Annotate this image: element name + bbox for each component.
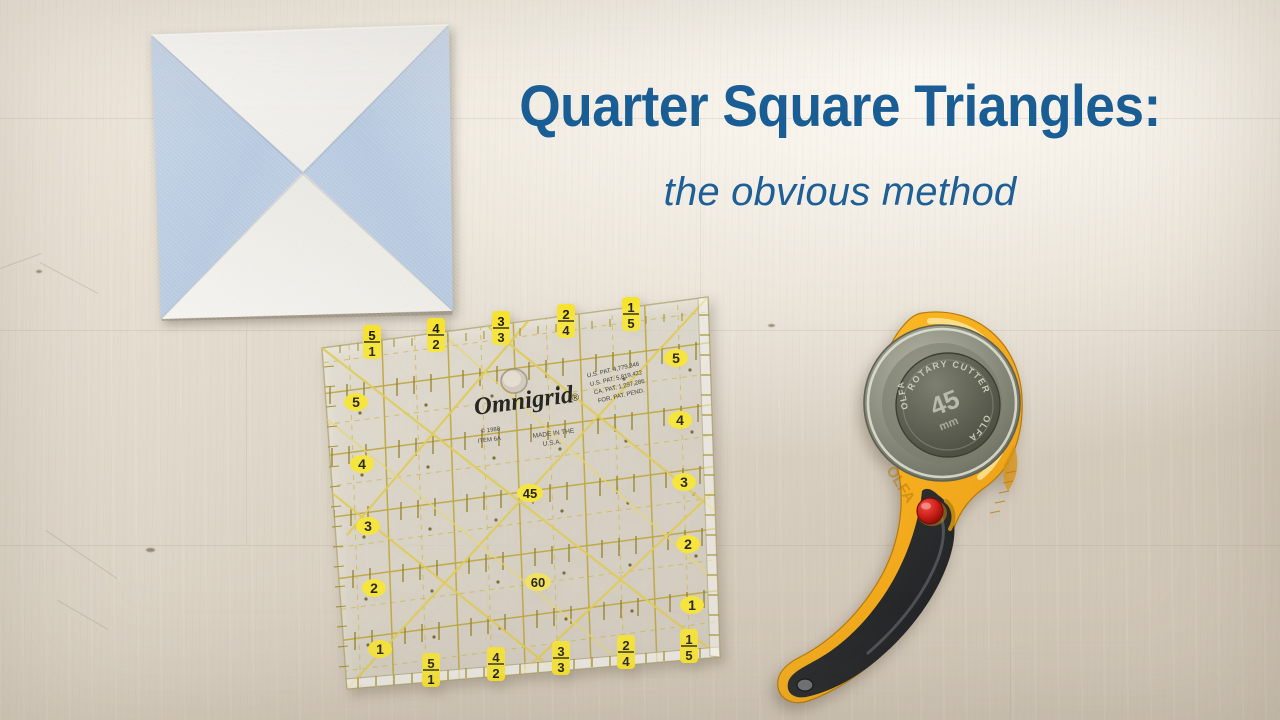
wood-knot	[146, 548, 155, 552]
video-frame: 5 4 3 2 1 5 4 3	[0, 0, 1280, 720]
page-subtitle: the obvious method	[420, 172, 1260, 212]
fabric-texture	[151, 25, 455, 319]
olfa-rotary-cutter: ROTARY CUTTER OLFA OLFA 45 mm OLFA	[770, 295, 1060, 720]
quarter-square-triangle-fabric-block	[147, 23, 459, 321]
wood-knot	[36, 270, 42, 273]
svg-text:5: 5	[368, 328, 375, 343]
title-card: Quarter Square Triangles: the obvious me…	[420, 78, 1260, 212]
ruler-sheen	[322, 297, 720, 689]
page-title: Quarter Square Triangles:	[454, 78, 1227, 136]
cutter-lanyard-hole	[797, 679, 813, 691]
omnigrid-quilting-ruler: 5 4 3 2 1 5 4 3	[300, 285, 730, 695]
cutter-blade-assembly: ROTARY CUTTER OLFA OLFA 45 mm	[864, 325, 1020, 481]
plank-seam	[246, 330, 247, 545]
